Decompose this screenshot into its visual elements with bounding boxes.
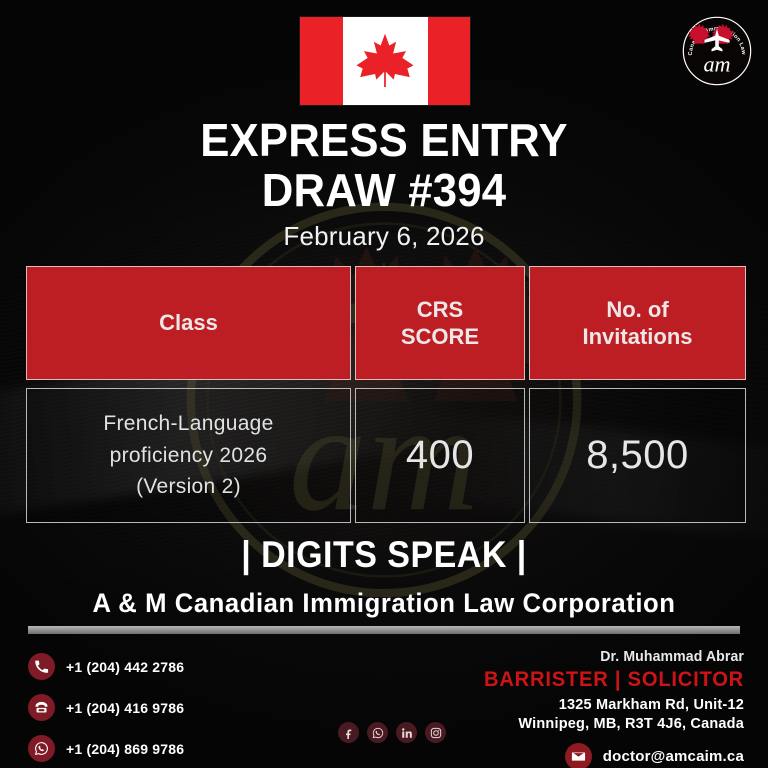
- contact-number: +1 (204) 442 2786: [66, 659, 184, 675]
- flag-band-right: [428, 17, 471, 105]
- company-name: A & M Canadian Immigration Law Corporati…: [19, 588, 749, 619]
- table-cell-invitations: 8,500: [529, 388, 746, 523]
- page-title-line2: DRAW #394: [19, 167, 749, 214]
- svg-text:am: am: [703, 52, 730, 77]
- table-header-invitations-line1: No. of: [606, 297, 668, 322]
- advocate-name: Dr. Muhammad Abrar: [340, 648, 744, 665]
- company-logo-icon: A&M Canadian Immigration Law Corp am: [680, 14, 754, 88]
- advocate-address-line2: Winnipeg, MB, R3T 4J6, Canada: [314, 715, 744, 734]
- telephone-icon: [28, 694, 55, 721]
- contact-row[interactable]: +1 (204) 869 9786: [28, 735, 184, 762]
- flag-band-left: [300, 17, 343, 105]
- table-header-invitations-line2: Invitations: [582, 324, 692, 349]
- table-header-crs-line2: SCORE: [401, 324, 479, 349]
- tagline: | DIGITS SPEAK |: [31, 534, 738, 576]
- title-block: EXPRESS ENTRY DRAW #394 February 6, 2026: [0, 117, 768, 252]
- draw-results-table: Class CRS SCORE No. of Invitations Frenc…: [26, 266, 742, 523]
- contact-number: +1 (204) 416 9786: [66, 700, 184, 716]
- email-address: doctor@amcaim.ca: [603, 748, 744, 765]
- maple-leaf-icon: [354, 30, 416, 92]
- table-header-crs-line1: CRS: [417, 297, 463, 322]
- divider-bar: [28, 626, 740, 634]
- canada-flag-icon: [300, 17, 470, 105]
- envelope-icon: [565, 743, 592, 768]
- table-header-invitations: No. of Invitations: [529, 266, 746, 380]
- contact-list: +1 (204) 442 2786 +1 (204) 416 9786 +1 (…: [28, 653, 184, 762]
- contact-number: +1 (204) 869 9786: [66, 741, 184, 757]
- table-cell-class-line1: French-Language: [103, 412, 273, 435]
- table-cell-crs-score: 400: [355, 388, 525, 523]
- contact-row[interactable]: +1 (204) 442 2786: [28, 653, 184, 680]
- contact-row[interactable]: +1 (204) 416 9786: [28, 694, 184, 721]
- phone-handset-icon: [28, 653, 55, 680]
- table-header-class: Class: [26, 266, 351, 380]
- poster-canvas: am A&M Canadian Immigration Law Corp: [0, 0, 768, 768]
- table-cell-class-line2: proficiency 2026: [110, 444, 268, 467]
- advocate-role: BARRISTER | SOLICITOR: [331, 668, 744, 692]
- table-header-crs-score: CRS SCORE: [355, 266, 525, 380]
- table-cell-class-line3: (Version 2): [136, 475, 241, 498]
- advocate-address-line1: 1325 Markham Rd, Unit-12: [314, 696, 744, 715]
- whatsapp-icon: [28, 735, 55, 762]
- email-row[interactable]: doctor@amcaim.ca: [314, 743, 744, 768]
- table-cell-class: French-Language proficiency 2026 (Versio…: [26, 388, 351, 523]
- page-title-line1: EXPRESS ENTRY: [19, 117, 749, 164]
- table-header-class-label: Class: [159, 309, 218, 337]
- advocate-block: Dr. Muhammad Abrar BARRISTER | SOLICITOR…: [314, 648, 744, 768]
- draw-date: February 6, 2026: [0, 221, 768, 252]
